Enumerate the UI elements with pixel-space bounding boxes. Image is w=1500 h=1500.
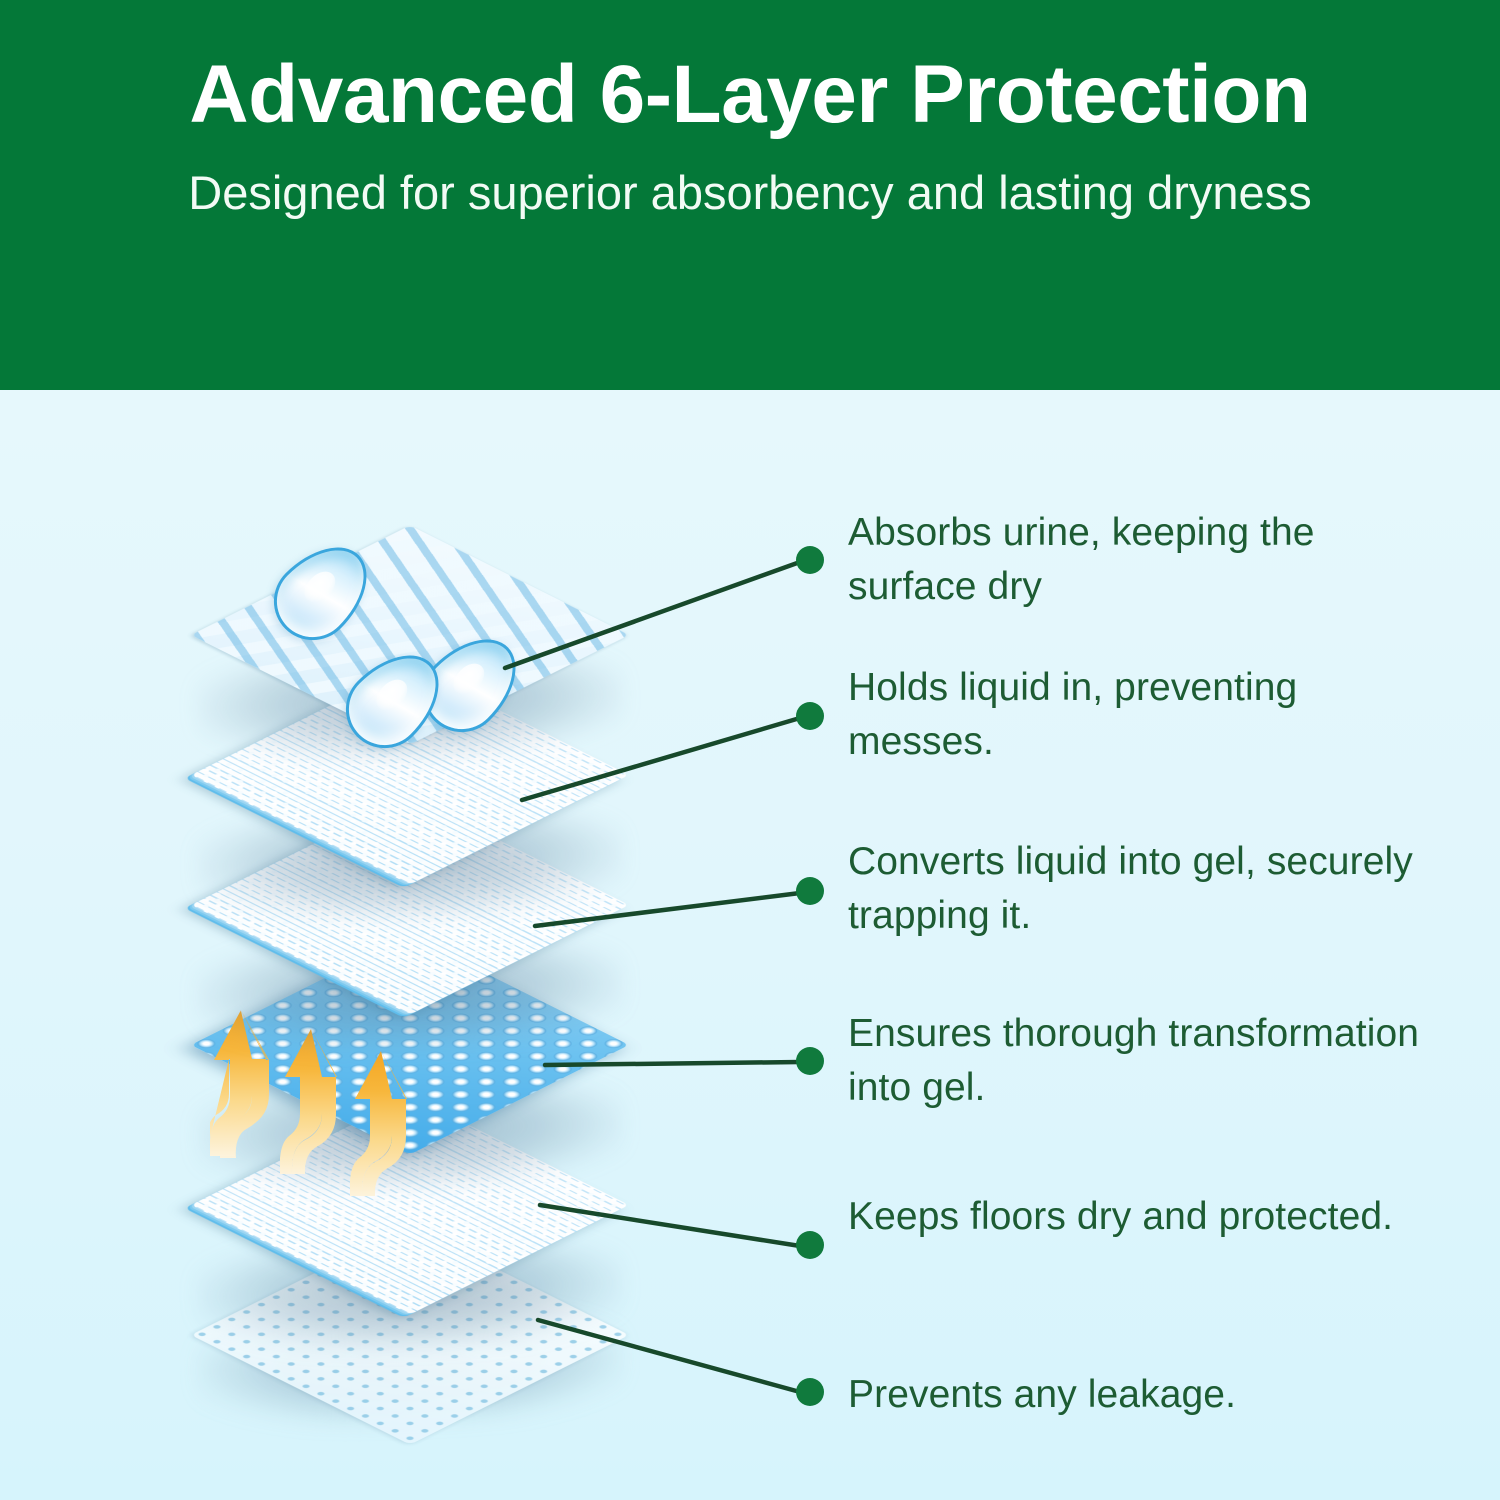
page-title: Advanced 6-Layer Protection	[189, 52, 1310, 138]
page-subtitle: Designed for superior absorbency and las…	[188, 160, 1311, 227]
callout-label-4: Ensures thorough transformation into gel…	[848, 1007, 1448, 1115]
vapor-arrow-3	[350, 1048, 412, 1198]
callout-label-2: Holds liquid in, preventing messes.	[848, 661, 1448, 769]
callout-label-6: Prevents any leakage.	[848, 1368, 1448, 1422]
infographic-page: Advanced 6-Layer Protection Designed for…	[0, 0, 1500, 1500]
header-banner: Advanced 6-Layer Protection Designed for…	[0, 0, 1500, 390]
layer-1-top-dry-surface	[100, 480, 720, 790]
callout-label-5: Keeps floors dry and protected.	[848, 1190, 1448, 1244]
callout-label-3: Converts liquid into gel, securely trapp…	[848, 835, 1448, 943]
callout-label-1: Absorbs urine, keeping the surface dry	[848, 506, 1448, 614]
layer-stack-illustration	[0, 390, 820, 1500]
